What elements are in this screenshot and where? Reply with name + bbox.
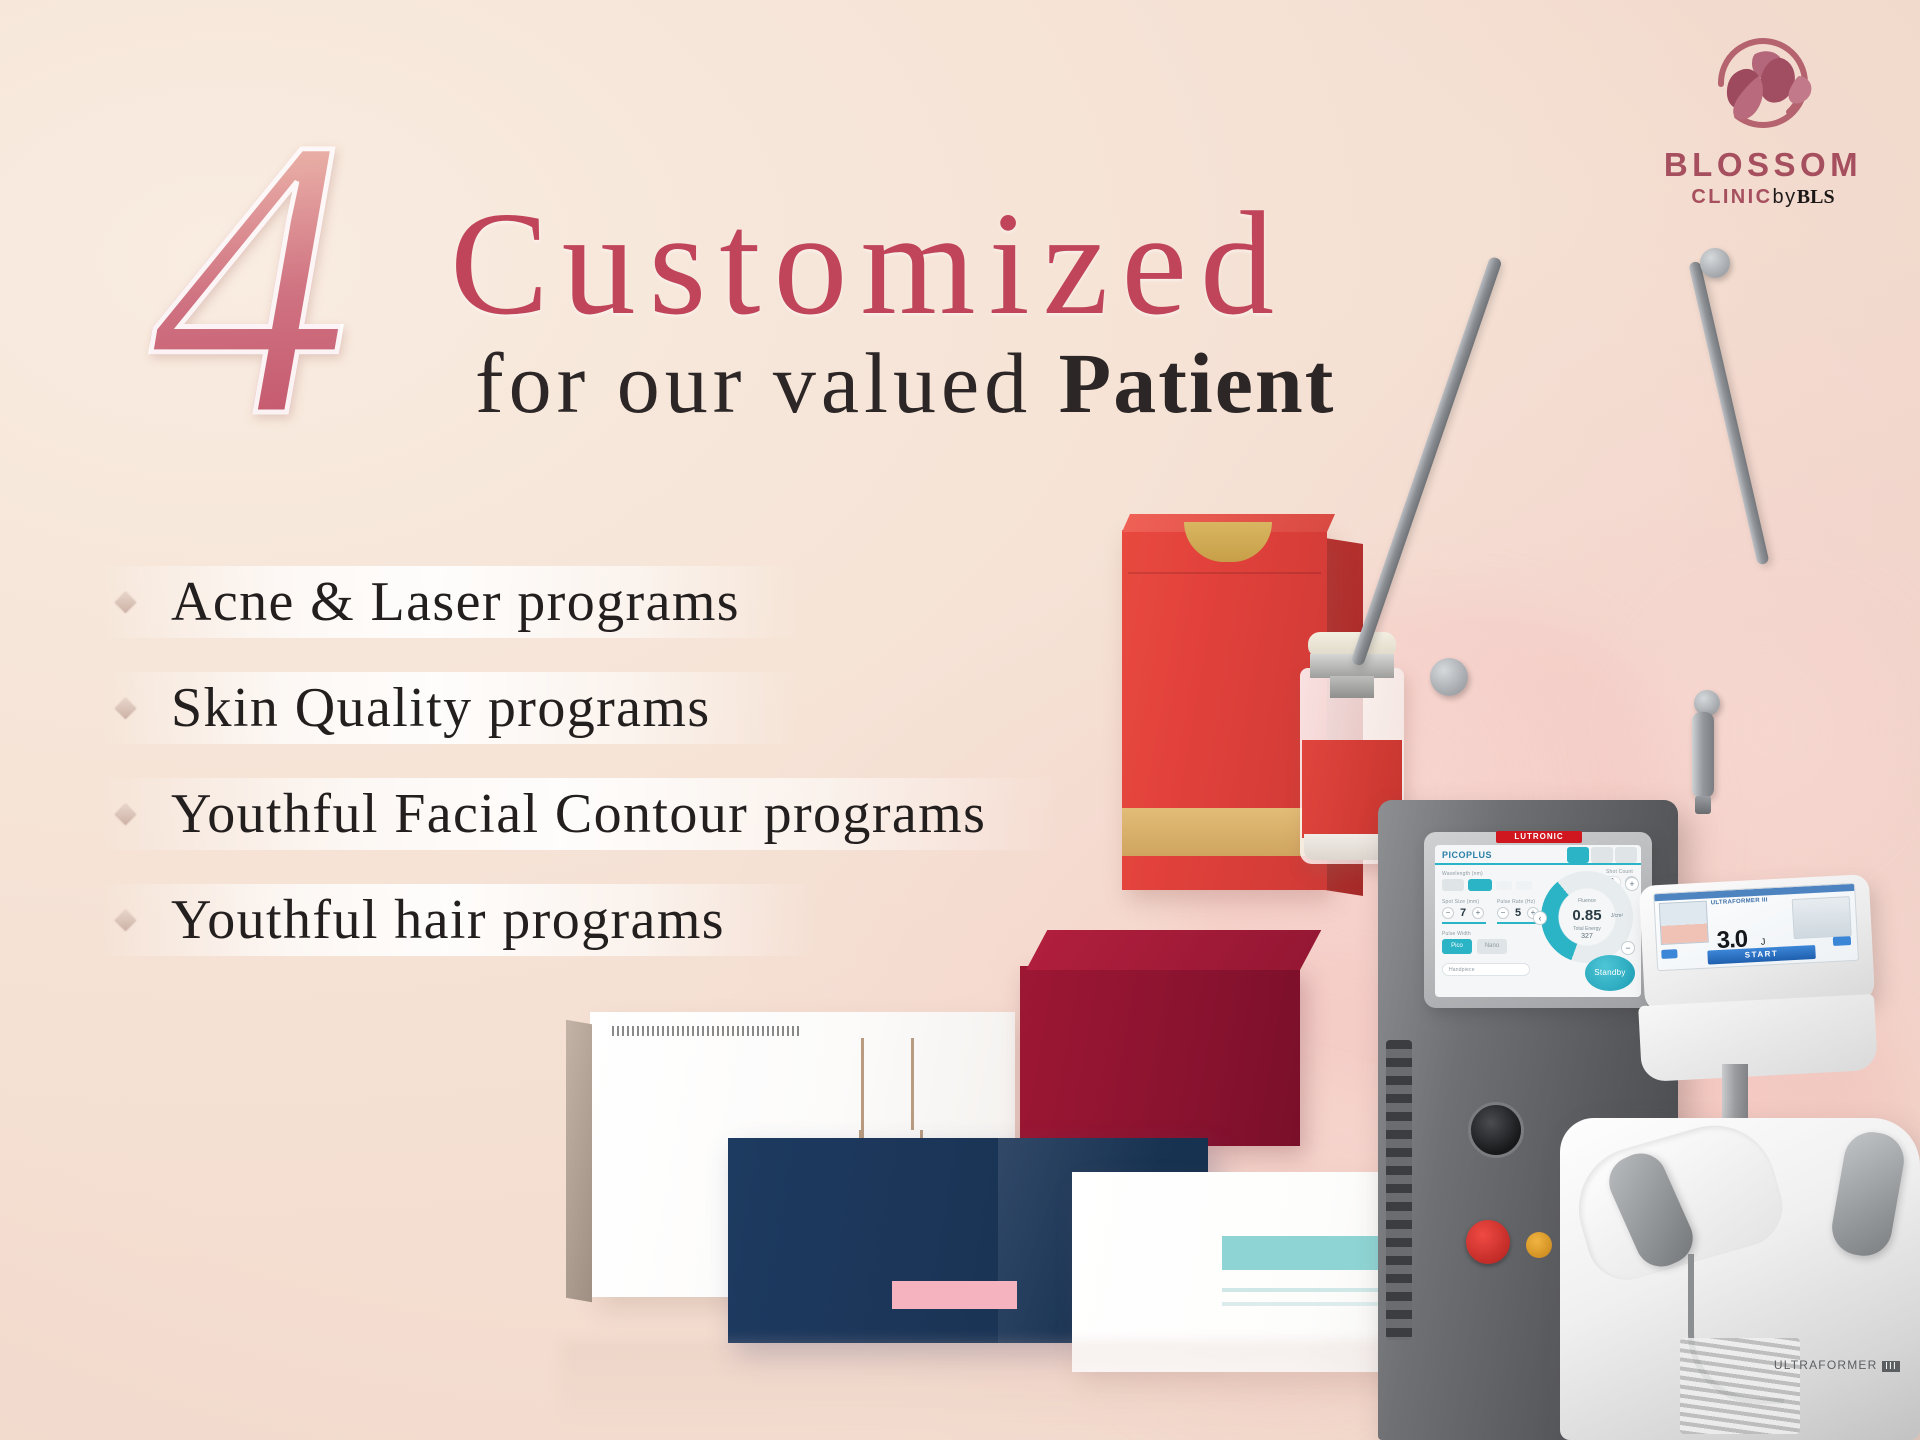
- list-item-label: Skin Quality programs: [171, 676, 711, 740]
- logo-tagline: CLINICbyBLS: [1648, 186, 1878, 209]
- list-item: Acne & Laser programs: [100, 560, 1110, 644]
- list-item-label: Youthful Facial Contour programs: [171, 782, 986, 846]
- headline-subline-emphasis: Patient: [1059, 335, 1336, 431]
- rose-blossom-icon: [1703, 24, 1823, 144]
- program-list: Acne & Laser programs Skin Quality progr…: [100, 560, 1110, 984]
- logo-by-text: by: [1772, 186, 1796, 208]
- headline-subline: for our valued Patient: [475, 340, 1335, 426]
- list-item-label: Acne & Laser programs: [171, 570, 740, 634]
- list-item: Youthful hair programs: [100, 878, 1110, 962]
- list-item: Youthful Facial Contour programs: [100, 772, 1110, 856]
- headline-subline-prefix: for our valued: [475, 335, 1059, 431]
- logo-wordmark: BLOSSOM: [1648, 148, 1878, 181]
- logo-bls-text: BLS: [1797, 186, 1835, 208]
- brand-logo: BLOSSOM CLINICbyBLS: [1648, 24, 1878, 209]
- logo-clinic-text: CLINIC: [1691, 186, 1772, 208]
- list-item: Skin Quality programs: [100, 666, 1110, 750]
- headline-number: 4: [150, 110, 340, 446]
- headline-word: Customized: [450, 190, 1287, 338]
- list-item-label: Youthful hair programs: [171, 888, 725, 952]
- promo-canvas: BLOSSOM CLINICbyBLS 4 Customized for our…: [0, 0, 1920, 1440]
